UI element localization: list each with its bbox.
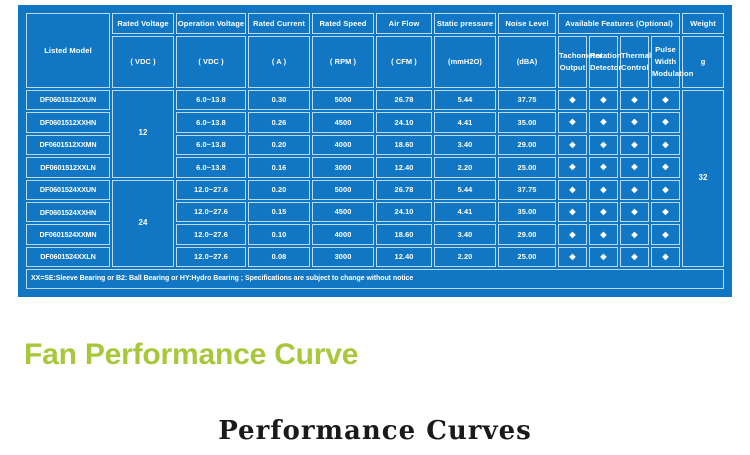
cell-rated-speed: 3000 (312, 157, 374, 177)
page-root: Listed Model Rated Voltage Operation Vol… (0, 0, 750, 455)
feature-mark-pulse-width-modulation: ◆ (651, 224, 680, 244)
feature-mark-thermal-control: ◆ (620, 224, 649, 244)
unit-rated-current: ( A ) (248, 36, 310, 88)
table-header-row-primary: Listed Model Rated Voltage Operation Vol… (26, 13, 724, 34)
unit-rated-voltage: ( VDC ) (112, 36, 174, 88)
feature-mark-pulse-width-modulation: ◆ (651, 90, 680, 110)
cell-listed-model: DF0601524XXLN (26, 247, 110, 267)
cell-operation-voltage: 12.0~27.6 (176, 224, 246, 244)
header-tachometer-output: Tachometer Output (558, 36, 587, 88)
header-noise-level: Noise Level (498, 13, 556, 34)
cell-noise-level: 29.00 (498, 224, 556, 244)
cell-listed-model: DF0601524XXHN (26, 202, 110, 222)
cell-air-flow: 18.60 (376, 224, 432, 244)
feature-mark-pulse-width-modulation: ◆ (651, 157, 680, 177)
cell-noise-level: 37.75 (498, 180, 556, 200)
feature-mark-tachometer-output: ◆ (558, 135, 587, 155)
cell-rated-current: 0.30 (248, 90, 310, 110)
table-footnote: XX=SE:Sleeve Bearing or B2: Ball Bearing… (26, 269, 724, 289)
cell-noise-level: 25.00 (498, 247, 556, 267)
cell-operation-voltage: 12.0~27.6 (176, 247, 246, 267)
cell-rated-speed: 4000 (312, 224, 374, 244)
cell-air-flow: 18.60 (376, 135, 432, 155)
cell-rated-speed: 5000 (312, 90, 374, 110)
feature-mark-rotation-detector: ◆ (589, 202, 618, 222)
cell-listed-model: DF0601512XXHN (26, 112, 110, 132)
feature-mark-thermal-control: ◆ (620, 180, 649, 200)
cell-static-pressure: 4.41 (434, 202, 496, 222)
cell-static-pressure: 3.40 (434, 224, 496, 244)
cell-rated-current: 0.20 (248, 180, 310, 200)
feature-mark-rotation-detector: ◆ (589, 157, 618, 177)
cell-listed-model: DF0601512XXMN (26, 135, 110, 155)
specification-table: Listed Model Rated Voltage Operation Vol… (24, 11, 726, 291)
cell-air-flow: 24.10 (376, 112, 432, 132)
cell-air-flow: 24.10 (376, 202, 432, 222)
unit-noise-level: (dBA) (498, 36, 556, 88)
cell-rated-speed: 4000 (312, 135, 374, 155)
unit-air-flow: ( CFM ) (376, 36, 432, 88)
unit-weight: g (682, 36, 724, 88)
header-thermal-control: Thermal Control (620, 36, 649, 88)
header-rated-speed: Rated Speed (312, 13, 374, 34)
cell-air-flow: 12.40 (376, 247, 432, 267)
header-available-features: Available Features (Optional) (558, 13, 680, 34)
cell-static-pressure: 5.44 (434, 90, 496, 110)
feature-mark-rotation-detector: ◆ (589, 90, 618, 110)
cell-air-flow: 12.40 (376, 157, 432, 177)
cell-noise-level: 25.00 (498, 157, 556, 177)
header-operation-voltage: Operation Voltage (176, 13, 246, 34)
feature-mark-tachometer-output: ◆ (558, 90, 587, 110)
cell-rated-current: 0.15 (248, 202, 310, 222)
cell-listed-model: DF0601512XXUN (26, 90, 110, 110)
cell-operation-voltage: 12.0~27.6 (176, 180, 246, 200)
unit-rated-speed: ( RPM ) (312, 36, 374, 88)
section-title-performance-curves: Performance Curves (0, 416, 750, 446)
cell-rated-voltage: 24 (112, 180, 174, 268)
cell-operation-voltage: 6.0~13.8 (176, 112, 246, 132)
header-pulse-width-modulation: Pulse Width Modulation (651, 36, 680, 88)
cell-rated-voltage: 12 (112, 90, 174, 178)
header-air-flow: Air Flow (376, 13, 432, 34)
feature-mark-thermal-control: ◆ (620, 202, 649, 222)
cell-operation-voltage: 12.0~27.6 (176, 202, 246, 222)
table-header-row-units: ( VDC ) ( VDC ) ( A ) ( RPM ) ( CFM ) (m… (26, 36, 724, 88)
feature-mark-tachometer-output: ◆ (558, 157, 587, 177)
cell-operation-voltage: 6.0~13.8 (176, 135, 246, 155)
cell-rated-current: 0.20 (248, 135, 310, 155)
cell-rated-current: 0.26 (248, 112, 310, 132)
unit-operation-voltage: ( VDC ) (176, 36, 246, 88)
feature-mark-thermal-control: ◆ (620, 135, 649, 155)
header-rated-voltage: Rated Voltage (112, 13, 174, 34)
cell-air-flow: 26.78 (376, 180, 432, 200)
cell-noise-level: 35.00 (498, 202, 556, 222)
cell-listed-model: DF0601524XXUN (26, 180, 110, 200)
header-static-pressure: Static pressure (434, 13, 496, 34)
cell-rated-current: 0.10 (248, 224, 310, 244)
feature-mark-rotation-detector: ◆ (589, 247, 618, 267)
feature-mark-rotation-detector: ◆ (589, 135, 618, 155)
header-rotation-detector: Rotation Detector (589, 36, 618, 88)
feature-mark-pulse-width-modulation: ◆ (651, 180, 680, 200)
feature-mark-pulse-width-modulation: ◆ (651, 202, 680, 222)
cell-noise-level: 37.75 (498, 90, 556, 110)
feature-mark-rotation-detector: ◆ (589, 180, 618, 200)
table-row: DF0601524XXUN2412.0~27.60.20500026.785.4… (26, 180, 724, 200)
cell-static-pressure: 2.20 (434, 247, 496, 267)
cell-air-flow: 26.78 (376, 90, 432, 110)
feature-mark-tachometer-output: ◆ (558, 180, 587, 200)
cell-listed-model: DF0601512XXLN (26, 157, 110, 177)
cell-rated-current: 0.08 (248, 247, 310, 267)
feature-mark-tachometer-output: ◆ (558, 247, 587, 267)
specification-table-panel: Listed Model Rated Voltage Operation Vol… (18, 5, 732, 297)
table-row: DF0601512XXUN126.0~13.80.30500026.785.44… (26, 90, 724, 110)
feature-mark-thermal-control: ◆ (620, 157, 649, 177)
cell-static-pressure: 5.44 (434, 180, 496, 200)
header-listed-model: Listed Model (26, 13, 110, 88)
cell-listed-model: DF0601524XXMN (26, 224, 110, 244)
cell-operation-voltage: 6.0~13.8 (176, 157, 246, 177)
page-title-fan-performance-curve: Fan Performance Curve (24, 338, 358, 372)
feature-mark-rotation-detector: ◆ (589, 224, 618, 244)
header-weight: Weight (682, 13, 724, 34)
cell-static-pressure: 3.40 (434, 135, 496, 155)
unit-static-pressure: (mmH2O) (434, 36, 496, 88)
cell-rated-speed: 5000 (312, 180, 374, 200)
cell-rated-speed: 4500 (312, 202, 374, 222)
header-rated-current: Rated Current (248, 13, 310, 34)
cell-weight-value: 32 (682, 90, 724, 268)
cell-rated-speed: 4500 (312, 112, 374, 132)
cell-noise-level: 35.00 (498, 112, 556, 132)
feature-mark-tachometer-output: ◆ (558, 112, 587, 132)
feature-mark-pulse-width-modulation: ◆ (651, 247, 680, 267)
cell-static-pressure: 2.20 (434, 157, 496, 177)
feature-mark-tachometer-output: ◆ (558, 224, 587, 244)
feature-mark-thermal-control: ◆ (620, 90, 649, 110)
cell-operation-voltage: 6.0~13.8 (176, 90, 246, 110)
feature-mark-thermal-control: ◆ (620, 112, 649, 132)
feature-mark-tachometer-output: ◆ (558, 202, 587, 222)
cell-static-pressure: 4.41 (434, 112, 496, 132)
table-footnote-row: XX=SE:Sleeve Bearing or B2: Ball Bearing… (26, 269, 724, 289)
feature-mark-thermal-control: ◆ (620, 247, 649, 267)
feature-mark-pulse-width-modulation: ◆ (651, 135, 680, 155)
feature-mark-rotation-detector: ◆ (589, 112, 618, 132)
cell-rated-current: 0.16 (248, 157, 310, 177)
cell-rated-speed: 3000 (312, 247, 374, 267)
feature-mark-pulse-width-modulation: ◆ (651, 112, 680, 132)
specification-table-body: Listed Model Rated Voltage Operation Vol… (26, 13, 724, 289)
cell-noise-level: 29.00 (498, 135, 556, 155)
